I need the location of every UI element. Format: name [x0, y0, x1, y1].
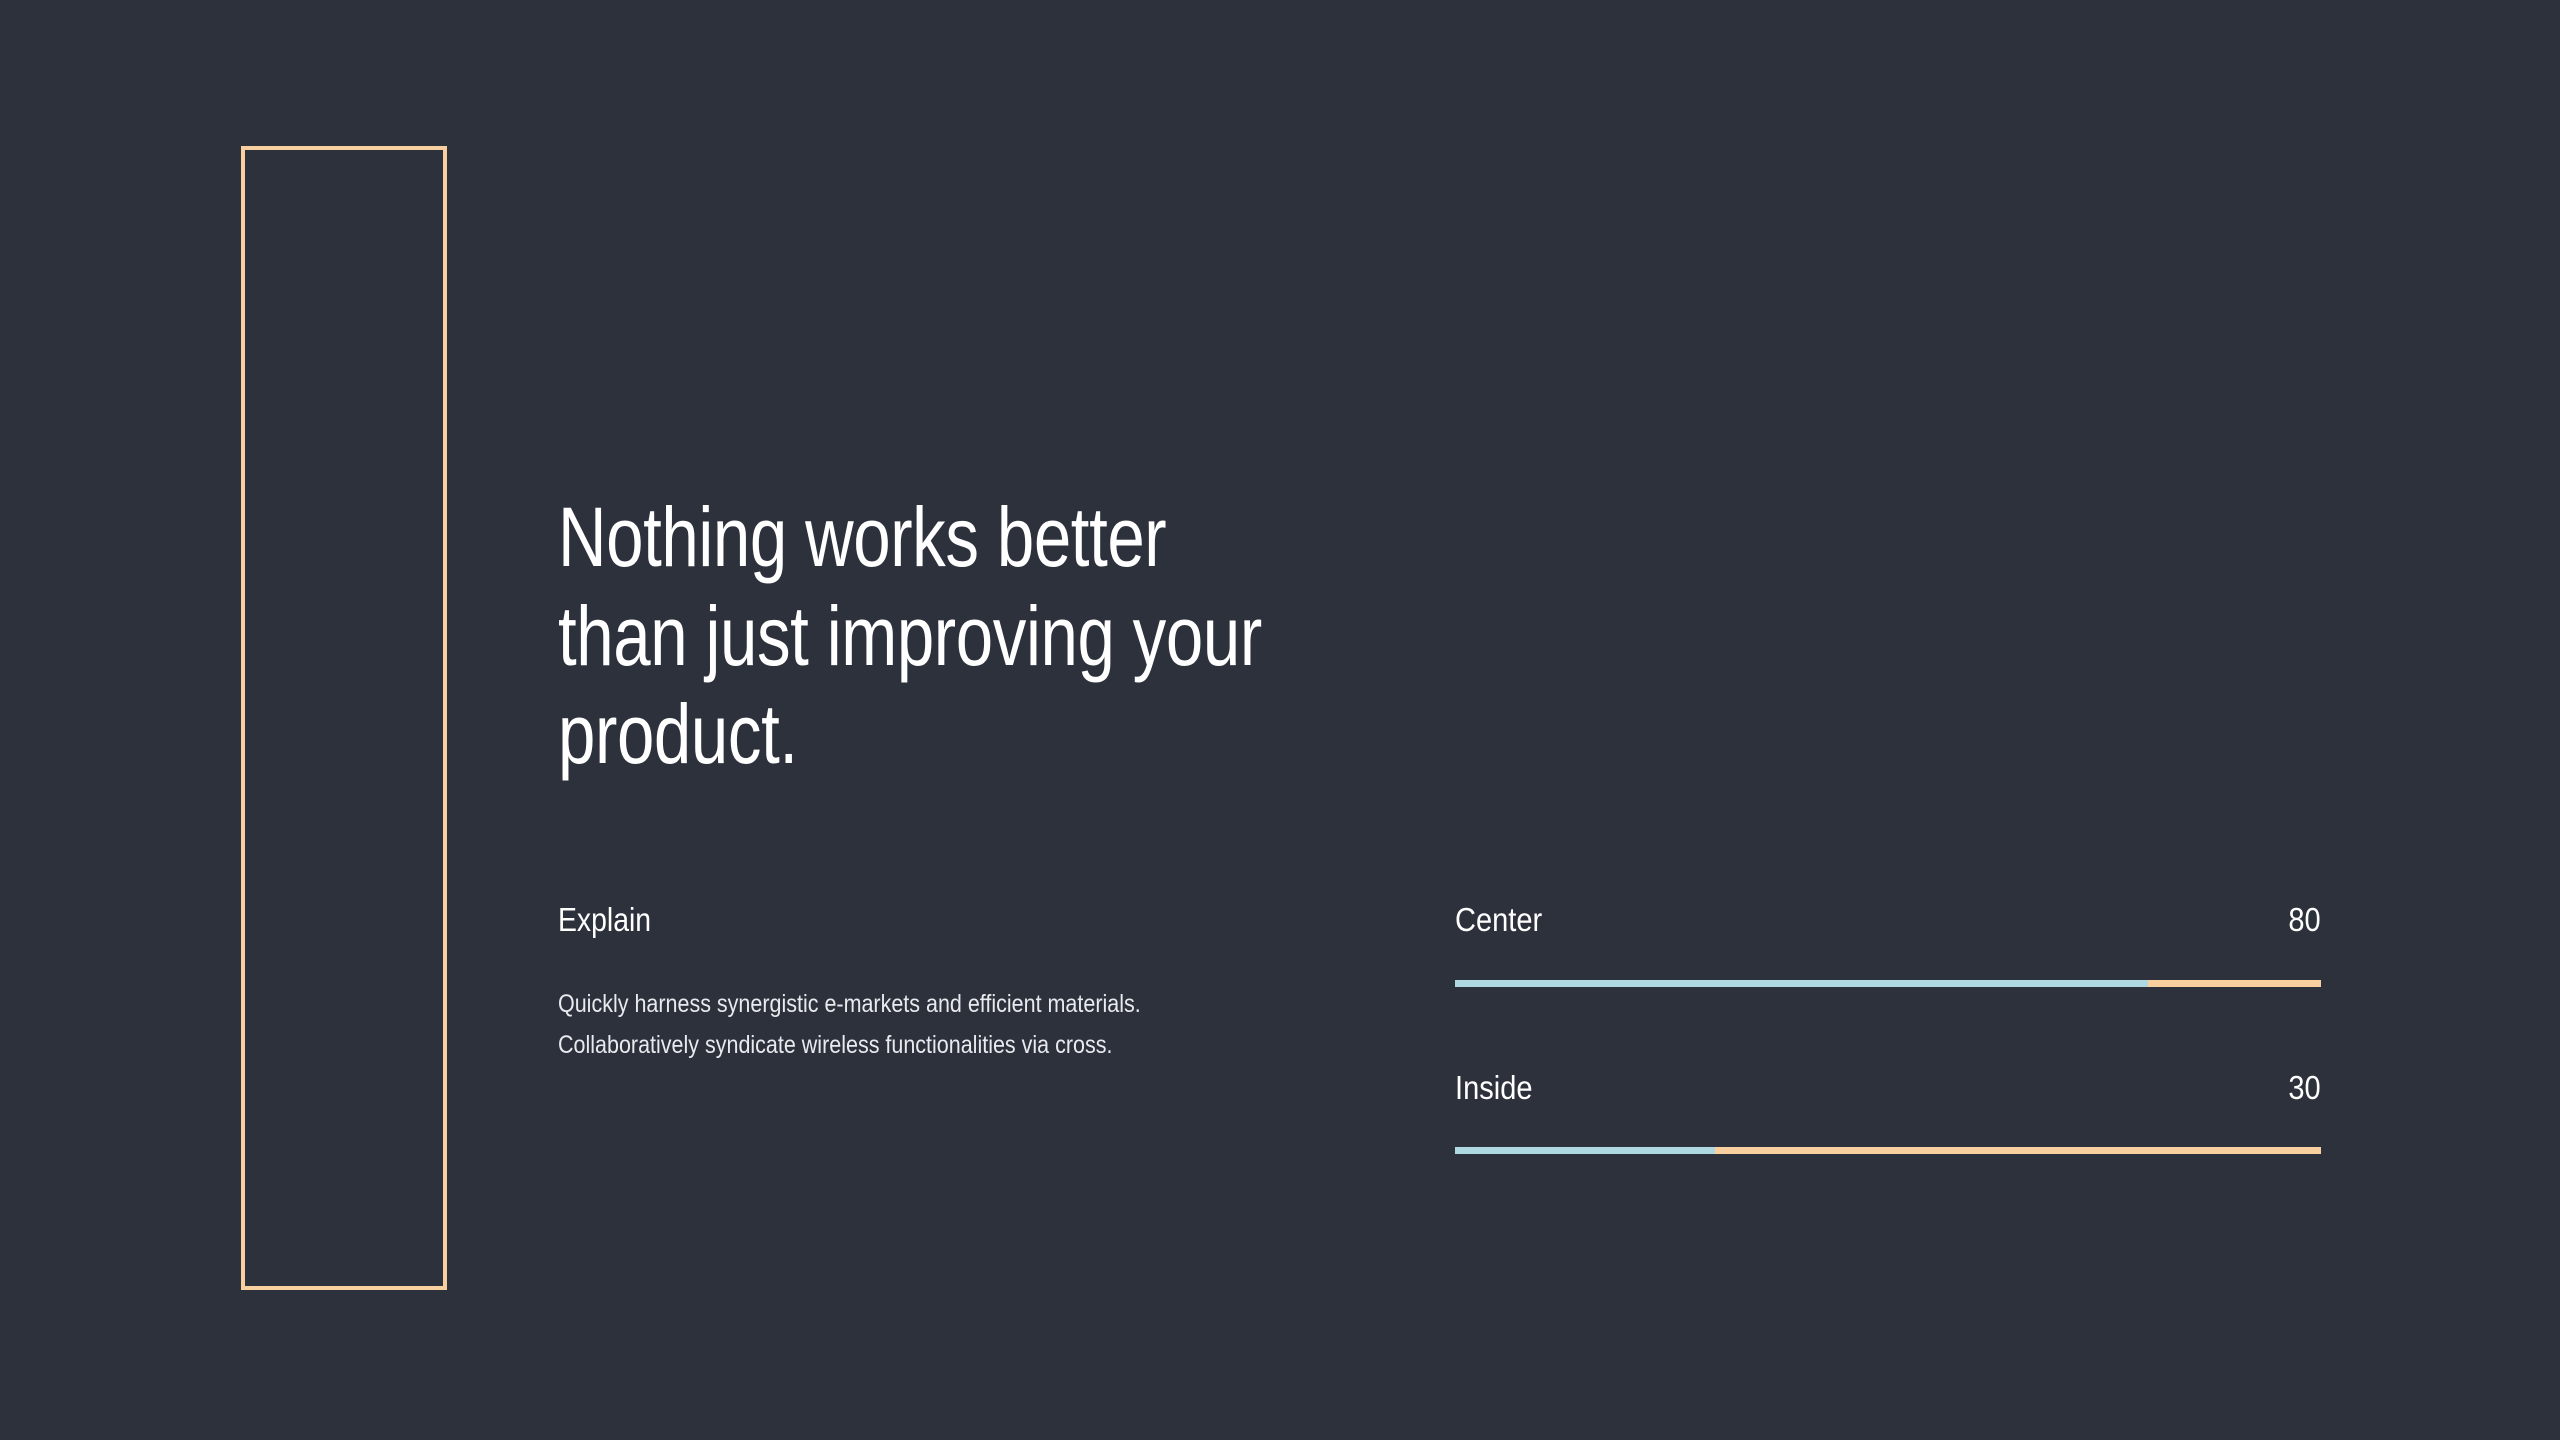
metric-value: 30	[2289, 1068, 2321, 1108]
progress-bar-fill	[1455, 980, 2148, 987]
explain-body-text: Quickly harness synergistic e-markets an…	[558, 984, 1194, 1066]
metric-row-center: Center 80	[1455, 900, 2321, 987]
metrics-list: Center 80 Inside 30	[1455, 900, 2321, 1154]
explain-section: Explain Quickly harness synergistic e-ma…	[558, 900, 1198, 1091]
page-title: Nothing works better than just improving…	[558, 488, 1278, 783]
metric-label: Center	[1455, 900, 1542, 940]
presentation-slide: Nothing works better than just improving…	[0, 0, 2560, 1440]
progress-bar-fill	[1455, 1147, 1715, 1154]
explain-heading: Explain	[558, 900, 1108, 940]
metric-header: Center 80	[1455, 900, 2321, 940]
metric-row-inside: Inside 30	[1455, 1068, 2321, 1155]
metric-value: 80	[2289, 900, 2321, 940]
progress-bar-track[interactable]	[1455, 1147, 2321, 1154]
metric-label: Inside	[1455, 1068, 1532, 1108]
metric-header: Inside 30	[1455, 1068, 2321, 1108]
progress-bar-track[interactable]	[1455, 980, 2321, 987]
decorative-frame-rectangle	[241, 146, 447, 1290]
